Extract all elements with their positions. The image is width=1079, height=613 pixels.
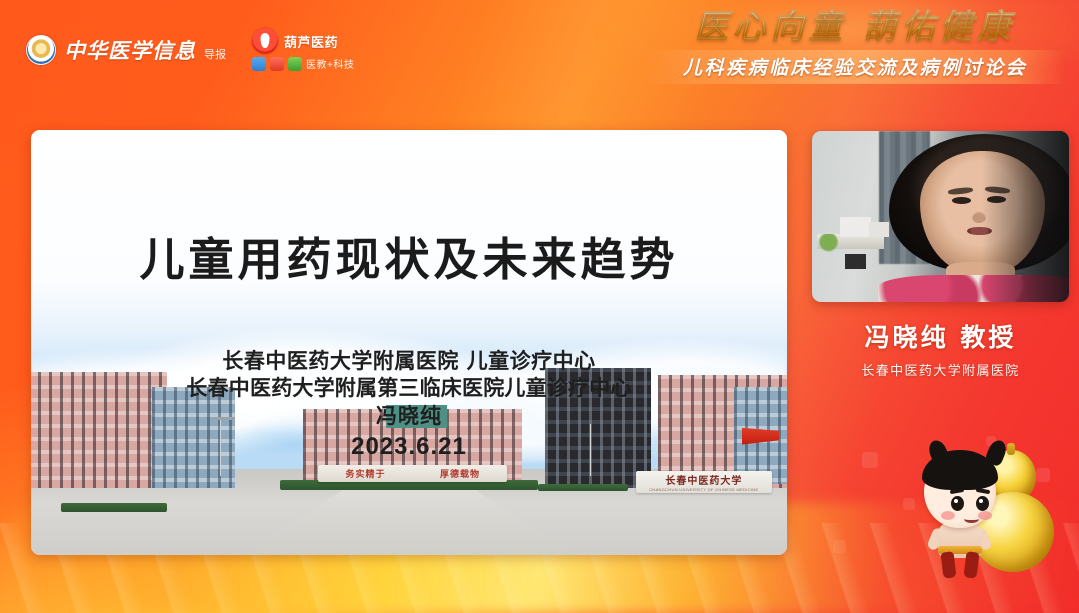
broadcast-stage: 中华医学信息 导报 葫芦医药 医教+科技 医心向童 葫佑健康 儿科疾病临床经验交…	[0, 0, 1079, 613]
app-chip-icon	[288, 57, 302, 71]
mascot-mouth	[964, 515, 979, 523]
campus-university-name-en: CHANGCHUN UNIVERSITY OF CHINESE MEDICINE	[649, 487, 758, 492]
person-eyebrow-left	[948, 187, 974, 196]
speaker-organization: 长春中医药大学附属医院	[812, 360, 1069, 379]
webcam-vignette	[982, 131, 1069, 302]
cma-journal-suffix: 导报	[204, 46, 226, 62]
mascot-eye-right	[976, 496, 989, 511]
cma-journal-name: 中华医学信息	[64, 35, 196, 65]
slide-subtitle-block: 长春中医药大学附属医院 儿童诊疗中心 长春中医药大学附属第三临床医院儿童诊疗中心…	[31, 348, 787, 462]
event-banner-subtitle: 儿科疾病临床经验交流及病例讨论会	[645, 53, 1065, 80]
event-banner: 医心向童 葫佑健康 儿科疾病临床经验交流及病例讨论会	[645, 8, 1065, 84]
webcam-dark-object	[845, 254, 866, 269]
partner-logo-tagline: 医教+科技	[306, 56, 354, 71]
cma-emblem-icon	[26, 35, 56, 65]
campus-hedge	[61, 503, 167, 512]
slide-date: 2023.6.21	[31, 431, 787, 462]
webcam-box	[869, 222, 890, 237]
decor-square	[833, 540, 846, 553]
cma-journal-logo: 中华医学信息 导报	[26, 35, 226, 65]
slide-title: 儿童用药现状及未来趋势	[31, 223, 787, 288]
mascot-leg-right	[963, 551, 979, 578]
presentation-slide[interactable]: 务实精于 厚德载物 长春中医药大学 CHANGCHUN UNIVERSITY O…	[31, 130, 787, 555]
webcam-plant	[817, 234, 840, 255]
campus-stone-sign-right-text: 厚德载物	[440, 467, 480, 480]
slide-affiliation-line-2: 长春中医药大学附属第三临床医院儿童诊疗中心	[31, 375, 787, 402]
speaker-name: 冯晓纯 教授	[812, 318, 1069, 354]
slide-presenter-name: 冯晓纯	[31, 403, 787, 430]
partner-logo-top: 葫芦医药	[252, 28, 354, 54]
person-eye-left	[952, 197, 971, 204]
app-chip-icon	[252, 57, 266, 71]
campus-university-name: 长春中医药大学	[665, 472, 742, 487]
mascot-hair-tuft-left	[926, 438, 951, 468]
partner-logo: 葫芦医药 医教+科技	[252, 28, 354, 71]
campus-stone-sign-left-text: 务实精于	[346, 467, 386, 480]
mascot-blush-left	[941, 511, 955, 520]
calabash-boy-mascot-icon	[912, 440, 1072, 585]
partner-logo-bottom: 医教+科技	[252, 56, 354, 71]
sponsor-logo-row: 中华医学信息 导报 葫芦医药 医教+科技	[26, 28, 354, 71]
mascot-eye-left	[951, 496, 964, 511]
mascot-blush-right	[978, 511, 992, 520]
mascot-boy	[912, 450, 1008, 580]
partner-logo-name: 葫芦医药	[284, 32, 338, 51]
webcam-box	[840, 217, 871, 238]
campus-hedge	[538, 484, 629, 491]
gourd-badge-icon	[252, 28, 278, 54]
speaker-caption: 冯晓纯 教授 长春中医药大学附属医院	[812, 318, 1069, 379]
mascot-hair	[922, 450, 998, 490]
campus-university-sign: 长春中医药大学 CHANGCHUN UNIVERSITY OF CHINESE …	[636, 471, 772, 493]
campus-stone-sign: 务实精于 厚德载物	[318, 465, 507, 482]
mascot-hair-tuft-right	[984, 438, 1009, 468]
decor-square	[862, 452, 878, 468]
event-banner-subtitle-bar: 儿科疾病临床经验交流及病例讨论会	[645, 50, 1065, 84]
slide-affiliation-line-1: 长春中医药大学附属医院 儿童诊疗中心	[31, 348, 787, 375]
event-banner-title: 医心向童 葫佑健康	[645, 8, 1065, 46]
speaker-webcam-feed[interactable]	[812, 131, 1069, 302]
app-chip-icon	[270, 57, 284, 71]
